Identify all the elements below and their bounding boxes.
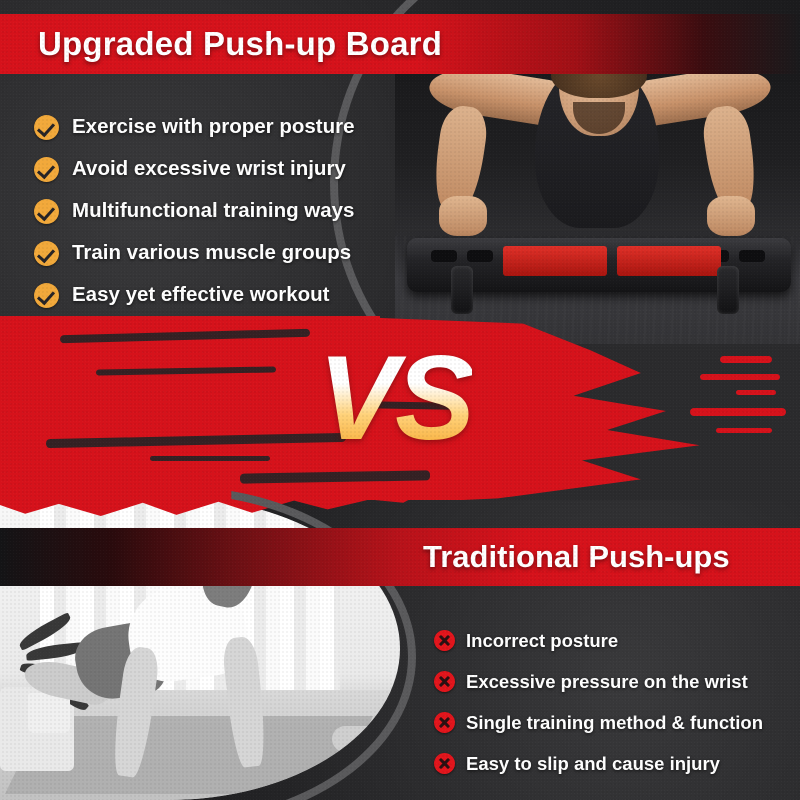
vs-band-streak bbox=[150, 456, 270, 461]
traditional-pushups-title: Traditional Push-ups bbox=[423, 539, 730, 575]
board-slot bbox=[739, 250, 765, 262]
vs-band-splatter bbox=[700, 374, 780, 380]
dumbbell bbox=[332, 726, 384, 752]
vs-band-splatter bbox=[716, 428, 772, 433]
drawbacks-list: Incorrect posture Excessive pressure on … bbox=[434, 620, 794, 784]
benefit-label: Train various muscle groups bbox=[72, 241, 351, 265]
benefit-item: Exercise with proper posture bbox=[34, 106, 394, 148]
top-title-banner: Upgraded Push-up Board bbox=[0, 14, 800, 74]
benefit-label: Exercise with proper posture bbox=[72, 115, 355, 139]
athlete-right-hand bbox=[707, 196, 755, 236]
x-circle-icon bbox=[434, 630, 455, 651]
benefit-label: Multifunctional training ways bbox=[72, 199, 354, 223]
board-handle bbox=[451, 266, 473, 314]
benefits-list: Exercise with proper posture Avoid exces… bbox=[34, 106, 394, 316]
benefit-label: Easy yet effective workout bbox=[72, 283, 330, 307]
benefit-label: Avoid excessive wrist injury bbox=[72, 157, 346, 181]
vs-band-splatter bbox=[690, 408, 786, 416]
drawback-label: Easy to slip and cause injury bbox=[466, 753, 720, 775]
benefit-item: Easy yet effective workout bbox=[34, 274, 394, 316]
x-circle-icon bbox=[434, 671, 455, 692]
board-grip-pad bbox=[503, 246, 607, 276]
drawback-item: Easy to slip and cause injury bbox=[434, 743, 794, 784]
drawback-item: Excessive pressure on the wrist bbox=[434, 661, 794, 702]
athlete-left-hand bbox=[439, 196, 487, 236]
benefit-item: Multifunctional training ways bbox=[34, 190, 394, 232]
check-circle-icon bbox=[34, 157, 59, 182]
x-circle-icon bbox=[434, 712, 455, 733]
benefit-item: Avoid excessive wrist injury bbox=[34, 148, 394, 190]
board-slot bbox=[467, 250, 493, 262]
x-circle-icon bbox=[434, 753, 455, 774]
drawback-item: Single training method & function bbox=[434, 702, 794, 743]
board-grip-pad bbox=[617, 246, 721, 276]
board-slot bbox=[431, 250, 457, 262]
drawback-label: Single training method & function bbox=[466, 712, 763, 734]
plant-pot bbox=[28, 693, 70, 733]
bottom-title-banner: Traditional Push-ups bbox=[0, 528, 800, 586]
check-circle-icon bbox=[34, 283, 59, 308]
check-circle-icon bbox=[34, 199, 59, 224]
board-handle bbox=[717, 266, 739, 314]
vs-label: VS bbox=[318, 338, 472, 458]
drawback-item: Incorrect posture bbox=[434, 620, 794, 661]
drawback-label: Incorrect posture bbox=[466, 630, 618, 652]
check-circle-icon bbox=[34, 241, 59, 266]
vs-band-splatter bbox=[720, 356, 772, 363]
drawback-label: Excessive pressure on the wrist bbox=[466, 671, 748, 693]
benefit-item: Train various muscle groups bbox=[34, 232, 394, 274]
vs-band-splatter bbox=[736, 390, 776, 395]
check-circle-icon bbox=[34, 115, 59, 140]
product-comparison-infographic: Upgraded Push-up Board Exercise with pro… bbox=[0, 0, 800, 800]
upgraded-board-title: Upgraded Push-up Board bbox=[38, 25, 442, 63]
